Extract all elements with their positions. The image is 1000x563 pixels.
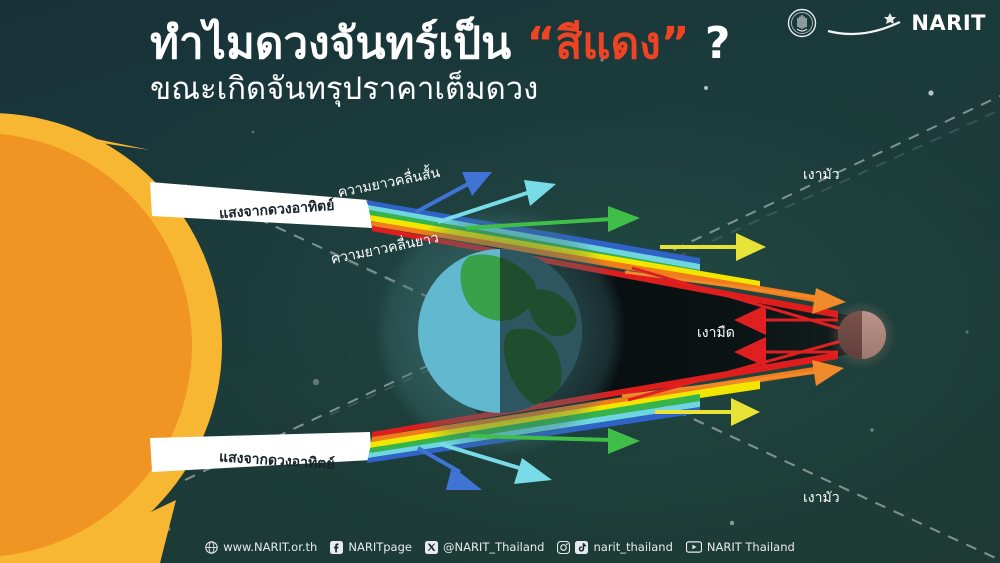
narit-wordmark-icon — [826, 10, 902, 36]
footer-label-facebook: NARITpage — [348, 540, 412, 554]
instagram-icon — [557, 541, 570, 554]
title-main-line: ทำไมดวงจันทร์เป็น “สีแดง” ? — [150, 22, 730, 66]
social-footer: www.NARIT.or.th NARITpage @NARIT_Thailan… — [0, 540, 1000, 554]
umbra-label: เงามืด — [697, 322, 735, 344]
footer-item-instagram-tiktok[interactable]: narit_thailand — [557, 540, 672, 554]
footer-label-x: @NARIT_Thailand — [443, 540, 545, 554]
title-text-highlight: “สีแดง” — [526, 18, 689, 69]
footer-label-youtube: NARIT Thailand — [707, 540, 795, 554]
youtube-icon — [686, 541, 702, 553]
penumbra-label-bottom: เงามัว — [803, 487, 840, 509]
moon — [828, 301, 896, 369]
narit-seal-icon — [787, 8, 817, 38]
infographic-canvas: ทำไมดวงจันทร์เป็น “สีแดง” ? ขณะเกิดจันทร… — [0, 0, 1000, 563]
globe-icon — [205, 541, 218, 554]
footer-item-x[interactable]: @NARIT_Thailand — [425, 540, 545, 554]
footer-item-website[interactable]: www.NARIT.or.th — [205, 540, 317, 554]
footer-label-website: www.NARIT.or.th — [223, 540, 317, 554]
brand-logo: NARIT — [787, 8, 986, 38]
x-twitter-icon — [425, 541, 438, 554]
tiktok-icon — [575, 541, 588, 554]
page-subtitle: ขณะเกิดจันทรุปราคาเต็มดวง — [150, 74, 730, 105]
facebook-icon — [330, 541, 343, 554]
footer-item-youtube[interactable]: NARIT Thailand — [686, 540, 795, 554]
footer-item-facebook[interactable]: NARITpage — [330, 540, 412, 554]
title-text-before: ทำไมดวงจันทร์เป็น — [150, 18, 526, 69]
footer-label-instagram-tiktok: narit_thailand — [593, 540, 672, 554]
logo-text: NARIT — [911, 11, 986, 35]
title-text-after: ? — [690, 18, 731, 69]
page-title: ทำไมดวงจันทร์เป็น “สีแดง” ? ขณะเกิดจันทร… — [150, 22, 730, 105]
penumbra-label-top: เงามัว — [803, 164, 840, 186]
